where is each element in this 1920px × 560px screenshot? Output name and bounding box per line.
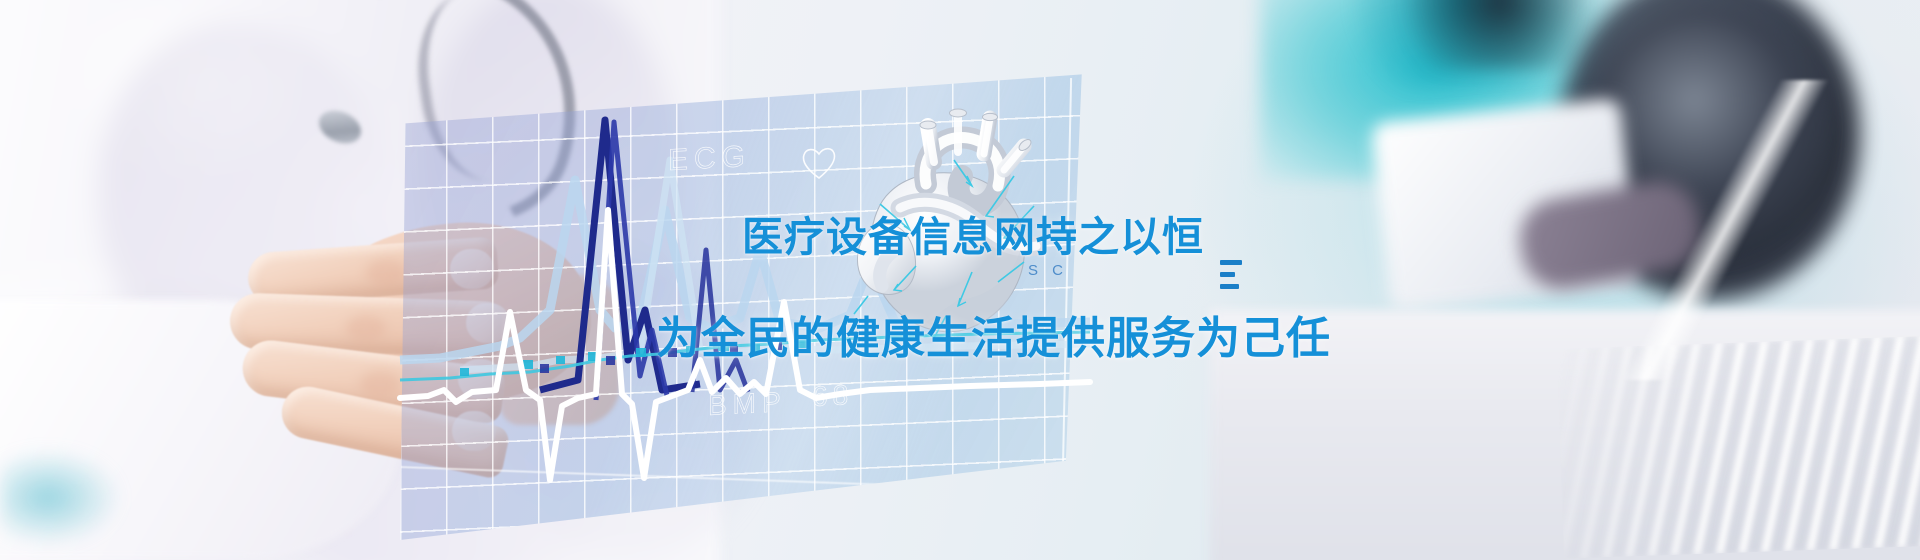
bmp-value: 68: [812, 379, 853, 413]
bmp-label: BMP: [708, 386, 787, 422]
blue-tick-marks: [1220, 260, 1250, 306]
headline-primary: 医疗设备信息网持之以恒: [742, 203, 1204, 263]
microscope-dark-top: [1400, 0, 1600, 70]
medical-hero-banner: ECG BMP 68 S C 医疗设备信息网持之以恒 为全民的健康生活提供服务为…: [0, 0, 1920, 560]
headline-secondary: 为全民的健康生活提供服务为己任: [656, 302, 1331, 366]
ecg-label: ECG: [668, 140, 751, 178]
knuckle: [346, 315, 386, 341]
teal-accent-blur: [0, 450, 120, 545]
microscope-light-streak: [1560, 80, 1900, 380]
sc-label: S C: [1028, 262, 1068, 279]
knuckle: [360, 371, 400, 397]
heart-outline-icon: [800, 145, 838, 181]
microscope: [1230, 0, 1920, 560]
